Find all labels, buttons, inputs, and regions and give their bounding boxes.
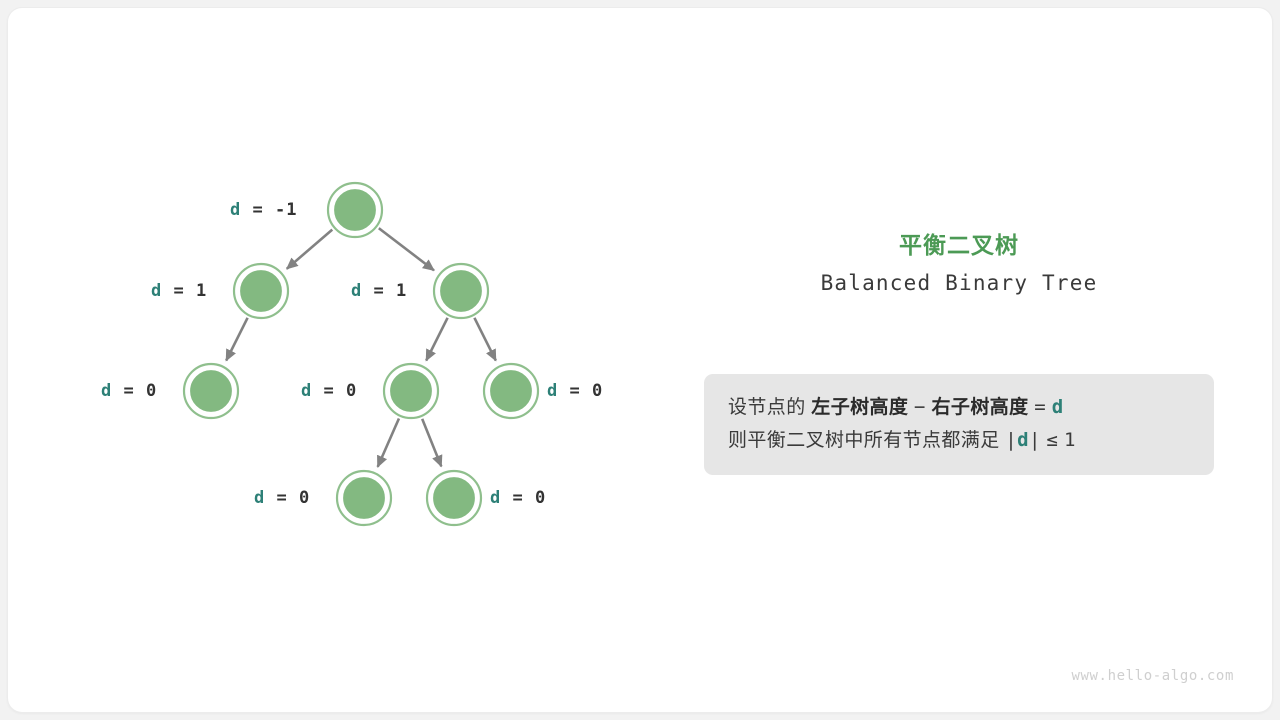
balance-equals: = — [501, 488, 535, 508]
info-panel: 平衡二叉树 Balanced Binary Tree 设节点的 左子树高度 − … — [704, 230, 1214, 297]
binary-tree-diagram — [8, 8, 1272, 712]
tree-node — [427, 471, 481, 525]
tree-edge — [378, 418, 399, 466]
tree-edge — [379, 228, 434, 270]
d-variable: d — [1052, 396, 1064, 418]
balance-equals: = — [241, 200, 275, 220]
definition-box: 设节点的 左子树高度 − 右子树高度 = d 则平衡二叉树中所有节点都满足 |d… — [704, 374, 1214, 475]
tree-edge — [287, 230, 333, 269]
node-balance-label: d = 1 — [351, 281, 407, 301]
balance-value: 1 — [196, 281, 207, 301]
less-equal-operator: ≤ — [1047, 429, 1059, 451]
balance-equals: = — [362, 281, 396, 301]
balance-variable: d — [490, 488, 501, 508]
tree-edge — [426, 318, 447, 361]
content-card: d = -1d = 1d = 1d = 0d = 0d = 0d = 0d = … — [8, 8, 1272, 712]
balance-variable: d — [547, 381, 558, 401]
balance-equals: = — [558, 381, 592, 401]
screenshot-canvas: d = -1d = 1d = 1d = 0d = 0d = 0d = 0d = … — [0, 0, 1280, 720]
balance-condition-prefix: 则平衡二叉树中所有节点都满足 — [728, 430, 1000, 451]
d-variable-abs: d — [1017, 429, 1029, 451]
balance-variable: d — [101, 381, 112, 401]
panel-title: 平衡二叉树 — [704, 230, 1214, 260]
balance-value: 0 — [299, 488, 310, 508]
balance-variable: d — [301, 381, 312, 401]
node-disc — [333, 188, 377, 232]
balance-equals: = — [312, 381, 346, 401]
left-subtree-height-term: 左子树高度 — [811, 397, 908, 418]
node-balance-label: d = 0 — [301, 381, 357, 401]
panel-subtitle: Balanced Binary Tree — [704, 269, 1214, 297]
balance-variable: d — [151, 281, 162, 301]
balance-variable: d — [230, 200, 241, 220]
minus-operator: − — [914, 396, 926, 418]
balance-value: 0 — [346, 381, 357, 401]
tree-node — [384, 364, 438, 418]
tree-node — [184, 364, 238, 418]
balance-equals: = — [162, 281, 196, 301]
tree-node — [234, 264, 288, 318]
balance-equals: = — [112, 381, 146, 401]
balance-limit-value: 1 — [1064, 429, 1076, 451]
node-disc — [189, 369, 233, 413]
node-disc — [342, 476, 386, 520]
node-disc — [489, 369, 533, 413]
node-balance-label: d = 0 — [490, 488, 546, 508]
tree-node — [328, 183, 382, 237]
balance-variable: d — [351, 281, 362, 301]
tree-node — [484, 364, 538, 418]
right-subtree-height-term: 右子树高度 — [932, 397, 1029, 418]
tree-nodes — [184, 183, 538, 525]
definition-line-1: 设节点的 左子树高度 − 右子树高度 = d — [728, 391, 1190, 424]
site-watermark: www.hello-algo.com — [1071, 668, 1234, 684]
node-disc — [239, 269, 283, 313]
tree-node — [337, 471, 391, 525]
equals-operator: = — [1034, 396, 1046, 418]
balance-value: -1 — [275, 200, 297, 220]
abs-bar-close: | — [1029, 429, 1041, 451]
node-balance-label: d = -1 — [230, 200, 297, 220]
node-disc — [432, 476, 476, 520]
tree-node — [434, 264, 488, 318]
balance-value: 0 — [146, 381, 157, 401]
tree-edge — [226, 318, 247, 361]
node-balance-label: d = 0 — [547, 381, 603, 401]
node-balance-label: d = 0 — [101, 381, 157, 401]
definition-prefix: 设节点的 — [728, 397, 806, 418]
abs-bar-open: | — [1005, 429, 1017, 451]
node-balance-label: d = 1 — [151, 281, 207, 301]
balance-variable: d — [254, 488, 265, 508]
definition-line-2: 则平衡二叉树中所有节点都满足 |d| ≤ 1 — [728, 424, 1190, 457]
node-disc — [439, 269, 483, 313]
tree-edge — [422, 419, 441, 467]
balance-value: 1 — [396, 281, 407, 301]
node-balance-label: d = 0 — [254, 488, 310, 508]
balance-value: 0 — [592, 381, 603, 401]
node-disc — [389, 369, 433, 413]
tree-edge — [474, 318, 495, 361]
balance-equals: = — [265, 488, 299, 508]
balance-value: 0 — [535, 488, 546, 508]
